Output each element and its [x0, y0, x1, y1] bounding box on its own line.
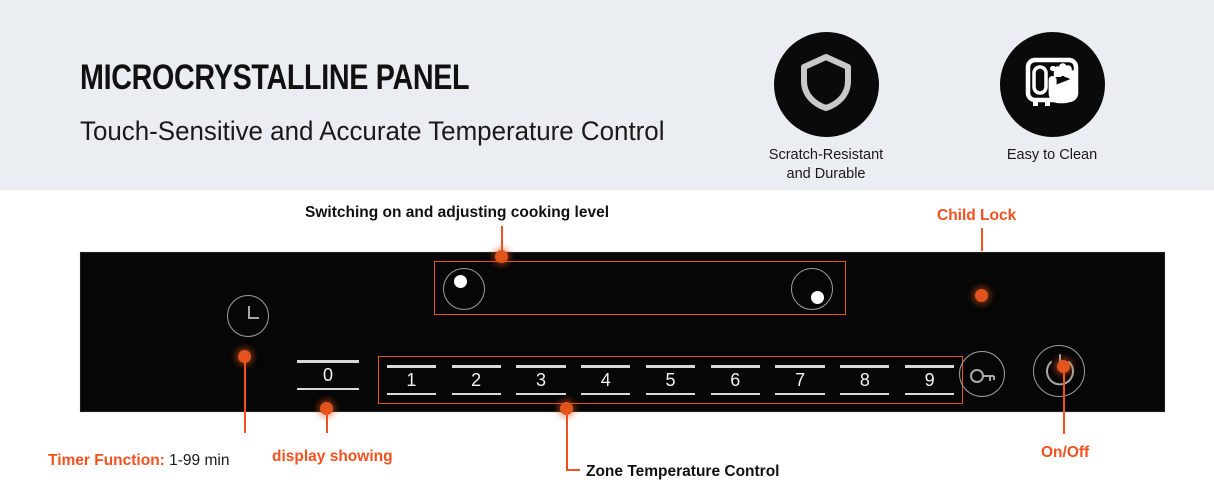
- display-value: 0: [297, 363, 359, 388]
- zone-level-label: 7: [768, 368, 833, 393]
- leader-line-timer: [244, 356, 246, 433]
- feature-label: Scratch-Resistant and Durable: [736, 146, 916, 184]
- zone-level-label: 4: [573, 368, 638, 393]
- zone-level-label: 8: [832, 368, 897, 393]
- zone-level-label: 3: [509, 368, 574, 393]
- shield-icon: [800, 53, 852, 116]
- anchor-dot-cooking-level: [495, 250, 508, 263]
- callout-timer-function: Timer Function: 1-99 min: [48, 452, 229, 470]
- zone-bottom-rule: [711, 393, 760, 396]
- zone-level-7[interactable]: 7: [768, 365, 833, 395]
- feature-easy-to-clean: Easy to Clean: [962, 32, 1142, 165]
- leader-elbow-zone-temp: [566, 440, 580, 471]
- zone-temperature-strip[interactable]: 1 2 3 4: [378, 356, 963, 404]
- zone-level-6[interactable]: 6: [703, 365, 768, 395]
- zone-level-label: 2: [444, 368, 509, 393]
- header-band: MICROCRYSTALLINE PANEL Touch-Sensitive a…: [0, 0, 1214, 190]
- feature-scratch-resistant: Scratch-Resistant and Durable: [736, 32, 916, 184]
- zone-bottom-rule: [775, 393, 824, 396]
- callout-timer-value: 1-99 min: [169, 452, 229, 469]
- zone-level-4[interactable]: 4: [573, 365, 638, 395]
- feature-icon-badge: [774, 32, 879, 137]
- timer-button[interactable]: [227, 295, 269, 337]
- zone-level-1[interactable]: 1: [379, 365, 444, 395]
- zone-bottom-rule: [646, 393, 695, 396]
- key-icon: [960, 352, 1006, 398]
- zone-level-label: 6: [703, 368, 768, 393]
- callout-timer-label: Timer Function:: [48, 452, 165, 469]
- zone-bottom-rule: [840, 393, 889, 396]
- knob-indicator-dot: [811, 291, 824, 304]
- callout-display-showing: display showing: [272, 448, 393, 466]
- zone-bottom-rule: [905, 393, 954, 396]
- feature-label: Easy to Clean: [962, 146, 1142, 165]
- zone-level-3[interactable]: 3: [509, 365, 574, 395]
- zone-level-label: 5: [638, 368, 703, 393]
- child-lock-button[interactable]: [959, 351, 1005, 397]
- zone-level-2[interactable]: 2: [444, 365, 509, 395]
- feature-icon-badge: [1000, 32, 1105, 137]
- cooking-level-slider[interactable]: [434, 261, 846, 315]
- callout-child-lock: Child Lock: [937, 207, 1016, 225]
- callout-on-off: On/Off: [1041, 444, 1089, 462]
- callout-zone-temperature: Zone Temperature Control: [586, 463, 779, 481]
- leader-line-on-off: [1063, 366, 1065, 434]
- cooktop-control-panel: 0 1 2: [80, 252, 1165, 412]
- slider-knob-right[interactable]: [791, 268, 833, 310]
- leader-line-display: [326, 408, 328, 433]
- page-subtitle: Touch-Sensitive and Accurate Temperature…: [80, 116, 664, 147]
- level-display: 0: [297, 360, 359, 390]
- title-block: MICROCRYSTALLINE PANEL Touch-Sensitive a…: [80, 58, 689, 147]
- zone-level-8[interactable]: 8: [832, 365, 897, 395]
- zone-level-5[interactable]: 5: [638, 365, 703, 395]
- display-bottom-rule: [297, 388, 359, 391]
- zone-level-label: 1: [379, 368, 444, 393]
- zone-bottom-rule: [452, 393, 501, 396]
- promo-panel-infographic: MICROCRYSTALLINE PANEL Touch-Sensitive a…: [0, 0, 1214, 498]
- zone-level-9[interactable]: 9: [897, 365, 962, 395]
- zone-bottom-rule: [581, 393, 630, 396]
- slider-knob-left[interactable]: [443, 268, 485, 310]
- feature-label-line1: Scratch-Resistant: [736, 146, 916, 165]
- zone-bottom-rule: [516, 393, 565, 396]
- feature-label-line2: and Durable: [736, 165, 916, 184]
- clock-icon: [228, 296, 270, 338]
- hand-wiping-cooktop-icon: [1023, 53, 1081, 116]
- zone-level-label: 9: [897, 368, 962, 393]
- zone-bottom-rule: [387, 393, 436, 396]
- panel-area: Switching on and adjusting cooking level…: [0, 190, 1214, 498]
- feature-label-line1: Easy to Clean: [962, 146, 1142, 165]
- page-title: MICROCRYSTALLINE PANEL: [80, 58, 579, 98]
- callout-cooking-level: Switching on and adjusting cooking level: [305, 204, 609, 222]
- knob-indicator-dot: [454, 275, 467, 288]
- anchor-dot-child-lock: [975, 289, 988, 302]
